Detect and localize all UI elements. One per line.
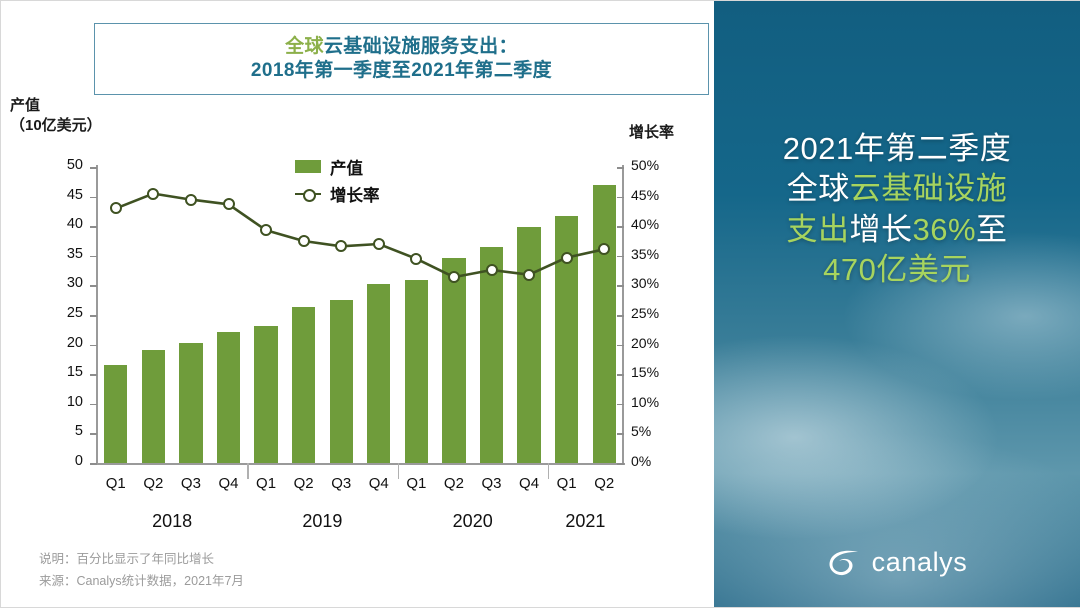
y-tick-left-10 xyxy=(90,167,97,169)
chart-footnotes: 说明：百分比显示了年同比增长 来源：Canalys统计数据，2021年7月 xyxy=(39,549,244,593)
x-tick-label-6: Q3 xyxy=(321,475,361,492)
canalys-swoosh-icon xyxy=(827,548,861,578)
y-tick-label-left-6: 30 xyxy=(43,275,83,291)
x-tick-label-7: Q4 xyxy=(359,475,399,492)
x-axis-year-2020: 2020 xyxy=(428,511,518,532)
canalys-logo-text: canalys xyxy=(872,547,968,578)
y-tick-left-4 xyxy=(90,345,97,347)
growth-marker-5 xyxy=(298,235,310,247)
x-tick-label-10: Q3 xyxy=(472,475,512,492)
headline-seg-year: 2021年第二季度 xyxy=(783,131,1011,166)
y-tick-label-left-1: 5 xyxy=(43,423,83,439)
x-axis-year-separator-1 xyxy=(247,463,248,479)
x-axis-year-2018: 2018 xyxy=(127,511,217,532)
headline-line-2: 全球云基础设施 xyxy=(714,169,1080,209)
legend-item-revenue: 产值 xyxy=(295,153,380,180)
legend-label-growth: 增长率 xyxy=(330,182,380,206)
x-tick-label-2: Q3 xyxy=(171,475,211,492)
x-tick-label-4: Q1 xyxy=(246,475,286,492)
headline-seg-global: 全球 xyxy=(787,171,850,206)
y-tick-label-left-0: 0 xyxy=(43,453,83,469)
y-tick-left-2 xyxy=(90,404,97,406)
y-tick-label-right-7: 35% xyxy=(631,246,677,262)
y-tick-left-0 xyxy=(90,463,97,465)
x-tick-label-9: Q2 xyxy=(434,475,474,492)
y-tick-label-right-9: 45% xyxy=(631,187,677,203)
y-tick-label-left-2: 10 xyxy=(43,394,83,410)
slide-root: 全球云基础设施服务支出： 2018年第一季度至2021年第二季度 产值 （10亿… xyxy=(0,0,1080,608)
footnote-methodology: 说明：百分比显示了年同比增长 xyxy=(39,549,244,571)
y-tick-left-1 xyxy=(90,433,97,435)
x-tick-label-0: Q1 xyxy=(96,475,136,492)
growth-marker-8 xyxy=(410,253,422,265)
y-tick-label-right-8: 40% xyxy=(631,216,677,232)
y-tick-label-right-1: 5% xyxy=(631,423,677,439)
growth-marker-3 xyxy=(223,198,235,210)
legend-label-revenue: 产值 xyxy=(330,155,363,179)
x-tick-label-3: Q4 xyxy=(209,475,249,492)
x-axis-year-2019: 2019 xyxy=(277,511,367,532)
y-tick-label-right-0: 0% xyxy=(631,453,677,469)
chart-title-line-2: 2018年第一季度至2021年第二季度 xyxy=(251,59,552,83)
x-tick-label-5: Q2 xyxy=(284,475,324,492)
footnote-source: 来源：Canalys统计数据，2021年7月 xyxy=(39,571,244,593)
headline-line-4: 470亿美元 xyxy=(714,250,1080,290)
x-tick-label-12: Q1 xyxy=(547,475,587,492)
y-tick-label-left-8: 40 xyxy=(43,216,83,232)
growth-marker-4 xyxy=(260,224,272,236)
growth-marker-0 xyxy=(110,202,122,214)
headline-seg-amount: 470亿美元 xyxy=(823,252,971,287)
growth-marker-2 xyxy=(185,194,197,206)
y-tick-left-6 xyxy=(90,285,97,287)
y-tick-label-left-4: 20 xyxy=(43,335,83,351)
x-axis-year-2021: 2021 xyxy=(540,511,630,532)
growth-marker-10 xyxy=(486,264,498,276)
growth-marker-12 xyxy=(561,252,573,264)
headline-seg-percent: 36% xyxy=(912,212,976,247)
x-tick-label-1: Q2 xyxy=(133,475,173,492)
y-tick-label-right-3: 15% xyxy=(631,364,677,380)
headline-seg-growth: 增长 xyxy=(849,212,912,247)
legend-swatch-bar-icon xyxy=(295,160,321,173)
y-tick-label-right-2: 10% xyxy=(631,394,677,410)
growth-marker-1 xyxy=(147,188,159,200)
y-tick-label-right-10: 50% xyxy=(631,157,677,173)
plot-area xyxy=(97,167,623,463)
y-tick-left-7 xyxy=(90,256,97,258)
highlight-panel: 2021年第二季度 全球云基础设施 支出增长36%至 470亿美元 canaly… xyxy=(714,1,1080,607)
growth-marker-9 xyxy=(448,271,460,283)
legend-item-growth: 增长率 xyxy=(295,180,380,207)
chart-title-box: 全球云基础设施服务支出： 2018年第一季度至2021年第二季度 xyxy=(94,23,709,95)
canalys-logo: canalys xyxy=(714,547,1080,578)
y-tick-label-right-6: 30% xyxy=(631,275,677,291)
y-tick-label-left-10: 50 xyxy=(43,157,83,173)
y-tick-label-right-5: 25% xyxy=(631,305,677,321)
legend-swatch-line-icon xyxy=(295,187,321,200)
x-axis-year-separator-2 xyxy=(398,463,399,479)
headline-seg-cloudinfra: 云基础设施 xyxy=(850,171,1008,206)
y-axis-left-title-main: 产值 xyxy=(10,96,102,116)
x-axis-line xyxy=(96,463,625,465)
chart-legend: 产值 增长率 xyxy=(295,153,380,207)
y-axis-left-title-unit: （10亿美元） xyxy=(10,116,102,136)
y-tick-label-right-4: 20% xyxy=(631,335,677,351)
x-tick-label-11: Q4 xyxy=(509,475,549,492)
chart-title-rest: 云基础设施服务支出： xyxy=(324,36,518,57)
growth-marker-13 xyxy=(598,243,610,255)
y-axis-right-title: 增长率 xyxy=(629,121,674,142)
y-tick-label-left-9: 45 xyxy=(43,187,83,203)
x-tick-label-8: Q1 xyxy=(396,475,436,492)
chart-title-green-word: 全球 xyxy=(285,36,324,57)
highlight-headline: 2021年第二季度 全球云基础设施 支出增长36%至 470亿美元 xyxy=(714,129,1080,290)
headline-line-1: 2021年第二季度 xyxy=(714,129,1080,169)
chart-panel: 全球云基础设施服务支出： 2018年第一季度至2021年第二季度 产值 （10亿… xyxy=(1,1,714,607)
y-tick-left-8 xyxy=(90,226,97,228)
y-tick-left-9 xyxy=(90,197,97,199)
x-tick-label-13: Q2 xyxy=(584,475,624,492)
headline-seg-to: 至 xyxy=(976,212,1008,247)
y-tick-label-left-3: 15 xyxy=(43,364,83,380)
headline-seg-spend: 支出 xyxy=(786,212,849,247)
growth-marker-6 xyxy=(335,240,347,252)
growth-marker-11 xyxy=(523,269,535,281)
y-tick-left-5 xyxy=(90,315,97,317)
y-tick-label-left-5: 25 xyxy=(43,305,83,321)
headline-line-3: 支出增长36%至 xyxy=(714,210,1080,250)
y-axis-left-title: 产值 （10亿美元） xyxy=(10,96,102,137)
growth-marker-7 xyxy=(373,238,385,250)
x-axis-year-separator-3 xyxy=(548,463,549,479)
growth-line-series xyxy=(97,167,623,463)
y-tick-left-3 xyxy=(90,374,97,376)
y-tick-right-0 xyxy=(617,463,624,465)
chart-title-line-1: 全球云基础设施服务支出： xyxy=(285,35,518,59)
y-tick-label-left-7: 35 xyxy=(43,246,83,262)
